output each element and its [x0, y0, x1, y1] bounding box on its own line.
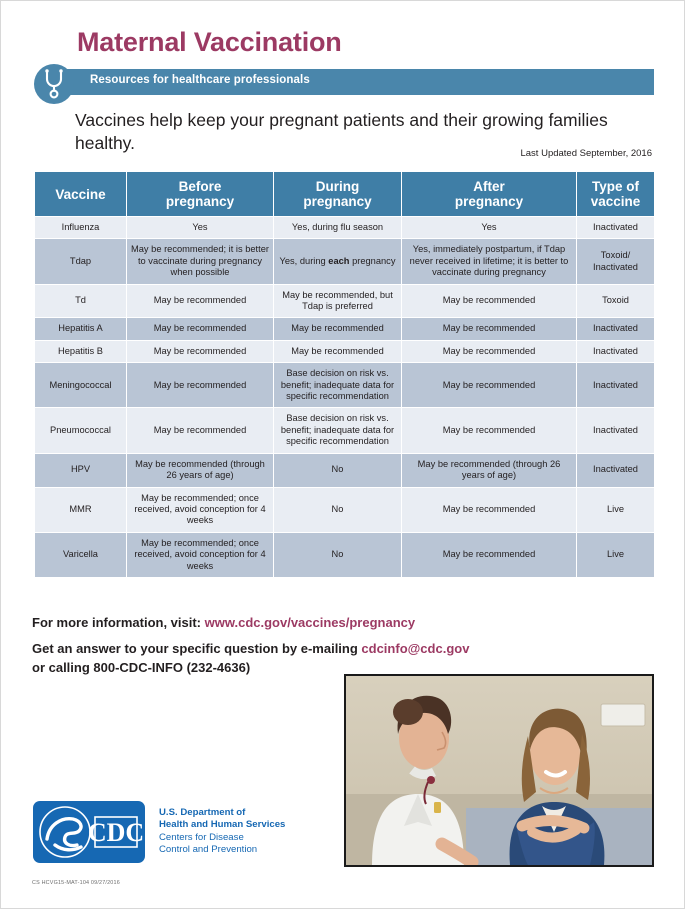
cell-after-pregnancy: May be recommended — [402, 284, 577, 318]
svg-text:CDC: CDC — [88, 818, 144, 847]
cell-during-pregnancy: No — [274, 532, 402, 577]
cell-vaccine-name: Td — [35, 284, 127, 318]
contact-block: For more information, visit: www.cdc.gov… — [32, 613, 552, 677]
cell-before-pregnancy: Yes — [127, 217, 274, 239]
vaccine-table: Vaccine Beforepregnancy Duringpregnancy … — [34, 171, 655, 578]
column-header-vaccine: Vaccine — [35, 172, 127, 217]
table-row: HPVMay be recommended (through 26 years … — [35, 453, 655, 487]
cell-before-pregnancy: May be recommended (through 26 years of … — [127, 453, 274, 487]
website-link[interactable]: www.cdc.gov/vaccines/pregnancy — [205, 615, 416, 630]
cell-vaccine-type: Toxoid/ Inactivated — [577, 239, 655, 284]
column-header-after: Afterpregnancy — [402, 172, 577, 217]
cell-before-pregnancy: May be recommended; once received, avoid… — [127, 532, 274, 577]
column-header-before: Beforepregnancy — [127, 172, 274, 217]
cell-before-pregnancy: May be recommended; it is better to vacc… — [127, 239, 274, 284]
cell-before-pregnancy: May be recommended — [127, 363, 274, 408]
emphasis-text: each — [328, 256, 349, 266]
cell-during-pregnancy: May be recommended — [274, 340, 402, 362]
email-link[interactable]: cdcinfo@cdc.gov — [361, 641, 469, 656]
dept-line-2: Health and Human Services — [159, 819, 285, 831]
cell-vaccine-type: Live — [577, 532, 655, 577]
table-row: TdMay be recommendedMay be recommended, … — [35, 284, 655, 318]
cell-before-pregnancy: May be recommended — [127, 340, 274, 362]
cell-during-pregnancy: No — [274, 453, 402, 487]
cell-vaccine-type: Inactivated — [577, 408, 655, 453]
table-row: Hepatitis AMay be recommendedMay be reco… — [35, 318, 655, 340]
cell-before-pregnancy: May be recommended — [127, 318, 274, 340]
table-header-row: Vaccine Beforepregnancy Duringpregnancy … — [35, 172, 655, 217]
cell-vaccine-name: MMR — [35, 487, 127, 532]
table-row: InfluenzaYesYes, during flu seasonYesIna… — [35, 217, 655, 239]
column-header-type: Type ofvaccine — [577, 172, 655, 217]
clinician-patient-photo — [344, 674, 654, 867]
column-header-during: Duringpregnancy — [274, 172, 402, 217]
cell-vaccine-type: Inactivated — [577, 340, 655, 362]
website-prefix: For more information, visit: — [32, 615, 205, 630]
cell-during-pregnancy: Yes, during flu season — [274, 217, 402, 239]
banner-label: Resources for healthcare professionals — [90, 74, 310, 86]
table-row: MeningococcalMay be recommendedBase deci… — [35, 363, 655, 408]
cs-code: CS HCVG15-MAT-104 09/27/2016 — [32, 880, 120, 886]
fact-sheet-page: Maternal Vaccination Resources for healt… — [0, 0, 685, 909]
last-updated: Last Updated September, 2016 — [520, 148, 652, 159]
cdc-logo: CDC — [33, 801, 145, 863]
cell-vaccine-name: Hepatitis B — [35, 340, 127, 362]
cell-after-pregnancy: Yes, immediately postpartum, if Tdap nev… — [402, 239, 577, 284]
cell-vaccine-name: Tdap — [35, 239, 127, 284]
cell-vaccine-name: Pneumococcal — [35, 408, 127, 453]
cell-vaccine-type: Live — [577, 487, 655, 532]
cell-after-pregnancy: May be recommended — [402, 340, 577, 362]
cell-during-pregnancy: Base decision on risk vs. benefit; inade… — [274, 408, 402, 453]
contact-line-email: Get an answer to your specific question … — [32, 639, 552, 658]
email-prefix: Get an answer to your specific question … — [32, 641, 361, 656]
cell-vaccine-type: Inactivated — [577, 217, 655, 239]
dept-line-1: U.S. Department of — [159, 807, 285, 819]
department-text: U.S. Department of Health and Human Serv… — [159, 807, 285, 856]
cell-after-pregnancy: May be recommended — [402, 363, 577, 408]
cell-before-pregnancy: May be recommended — [127, 408, 274, 453]
cell-vaccine-name: HPV — [35, 453, 127, 487]
banner: Resources for healthcare professionals — [34, 69, 654, 95]
table-row: Hepatitis BMay be recommendedMay be reco… — [35, 340, 655, 362]
cell-after-pregnancy: May be recommended — [402, 318, 577, 340]
cell-vaccine-name: Meningococcal — [35, 363, 127, 408]
cell-after-pregnancy: May be recommended — [402, 408, 577, 453]
table-body: InfluenzaYesYes, during flu seasonYesIna… — [35, 217, 655, 578]
cell-during-pregnancy: No — [274, 487, 402, 532]
cell-during-pregnancy: Base decision on risk vs. benefit; inade… — [274, 363, 402, 408]
page-title: Maternal Vaccination — [77, 27, 342, 58]
table-row: PneumococcalMay be recommendedBase decis… — [35, 408, 655, 453]
cell-vaccine-type: Inactivated — [577, 453, 655, 487]
table-row: MMRMay be recommended; once received, av… — [35, 487, 655, 532]
cell-during-pregnancy: May be recommended — [274, 318, 402, 340]
cell-vaccine-type: Inactivated — [577, 318, 655, 340]
cell-vaccine-name: Hepatitis A — [35, 318, 127, 340]
cell-before-pregnancy: May be recommended; once received, avoid… — [127, 487, 274, 532]
cell-after-pregnancy: May be recommended — [402, 487, 577, 532]
cell-vaccine-type: Inactivated — [577, 363, 655, 408]
stethoscope-icon — [34, 64, 74, 104]
dept-line-4: Control and Prevention — [159, 844, 285, 856]
cell-during-pregnancy: Yes, during each pregnancy — [274, 239, 402, 284]
cell-during-pregnancy: May be recommended, but Tdap is preferre… — [274, 284, 402, 318]
dept-line-3: Centers for Disease — [159, 832, 285, 844]
cell-vaccine-type: Toxoid — [577, 284, 655, 318]
cell-after-pregnancy: Yes — [402, 217, 577, 239]
cell-after-pregnancy: May be recommended (through 26 years of … — [402, 453, 577, 487]
cell-before-pregnancy: May be recommended — [127, 284, 274, 318]
contact-line-website: For more information, visit: www.cdc.gov… — [32, 613, 552, 632]
cell-vaccine-name: Varicella — [35, 532, 127, 577]
cell-vaccine-name: Influenza — [35, 217, 127, 239]
table-row: TdapMay be recommended; it is better to … — [35, 239, 655, 284]
cell-after-pregnancy: May be recommended — [402, 532, 577, 577]
table-row: VaricellaMay be recommended; once receiv… — [35, 532, 655, 577]
